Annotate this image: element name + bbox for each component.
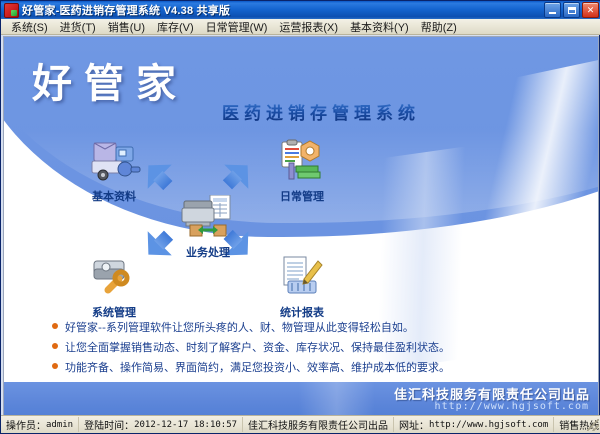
- module-caption: 日常管理: [254, 188, 350, 204]
- status-operator-value: admin: [46, 420, 73, 430]
- module-diagram: 基本资料: [4, 137, 598, 317]
- status-login-time: 登陆时间： 2012-12-17 18:10:57: [79, 417, 243, 432]
- module-caption: 基本资料: [66, 188, 162, 204]
- list-item: 让您全面掌握销售动态、时刻了解客户、资金、库存状况、保持最佳盈利状态。: [52, 339, 572, 355]
- client-area: 好管家 医药进销存管理系统: [3, 36, 599, 417]
- module-caption: 系统管理: [66, 304, 162, 320]
- printer-boxes-icon: [180, 195, 236, 241]
- application-window: 好管家-医药进销存管理系统 V4.38 共享版 ✕ 系统(S) 进货(T) 销售…: [0, 0, 600, 434]
- status-bar: 操作员： admin 登陆时间： 2012-12-17 18:10:57 佳汇科…: [1, 415, 600, 433]
- menu-item-sales[interactable]: 销售(U): [102, 18, 151, 36]
- title-bar[interactable]: 好管家-医药进销存管理系统 V4.38 共享版 ✕: [1, 1, 600, 19]
- status-login-value: 2012-12-17 18:10:57: [134, 420, 237, 430]
- truck-box-icon: [86, 139, 142, 185]
- menu-item-basedata[interactable]: 基本资料(Y): [344, 18, 415, 36]
- module-business-process[interactable]: 业务处理: [160, 195, 256, 260]
- module-basic-data[interactable]: 基本资料: [66, 139, 162, 204]
- status-operator-label: 操作员：: [6, 417, 46, 432]
- bullet-text: 让您全面掌握销售动态、时刻了解客户、资金、库存状况、保持最佳盈利状态。: [65, 339, 450, 355]
- brand-title: 好管家: [32, 51, 188, 109]
- bullet-dot-icon: [52, 323, 58, 329]
- module-caption: 统计报表: [254, 304, 350, 320]
- status-site-label: 网址：: [399, 417, 429, 432]
- status-operator: 操作员： admin: [1, 417, 79, 432]
- minimize-button[interactable]: [544, 2, 561, 18]
- splash-footer: 佳汇科技服务有限责任公司出品 http://www.hgjsoft.com: [4, 382, 598, 416]
- module-statistics-report[interactable]: 统计报表: [254, 255, 350, 320]
- menu-item-reports[interactable]: 运营报表(X): [273, 18, 344, 36]
- status-login-label: 登陆时间：: [84, 417, 134, 432]
- bullet-dot-icon: [52, 343, 58, 349]
- splash-screen: 好管家 医药进销存管理系统: [4, 37, 598, 416]
- minimize-icon: [549, 12, 556, 14]
- close-icon: ✕: [587, 6, 595, 15]
- status-site: 网址： http://www.hgjsoft.com: [394, 417, 554, 432]
- module-system-management[interactable]: 系统管理: [66, 255, 162, 320]
- resize-grip[interactable]: [587, 419, 599, 431]
- menu-item-stock[interactable]: 库存(V): [151, 18, 200, 36]
- maximize-button[interactable]: [563, 2, 580, 18]
- brand-subtitle: 医药进销存管理系统: [222, 99, 420, 124]
- close-button[interactable]: ✕: [582, 2, 599, 18]
- menu-item-help[interactable]: 帮助(Z): [415, 18, 463, 36]
- status-company: 佳汇科技服务有限责任公司出品: [243, 417, 394, 432]
- menu-item-daily[interactable]: 日常管理(W): [200, 18, 274, 36]
- window-title: 好管家-医药进销存管理系统 V4.38 共享版: [22, 2, 230, 18]
- menu-bar: 系统(S) 进货(T) 销售(U) 库存(V) 日常管理(W) 运营报表(X) …: [1, 19, 600, 35]
- bullet-text: 功能齐备、操作简易、界面简约，满足您投资小、效率高、维护成本低的要求。: [65, 359, 450, 375]
- module-daily-management[interactable]: 日常管理: [254, 139, 350, 204]
- report-pencil-icon: [274, 255, 330, 301]
- module-caption: 业务处理: [160, 244, 256, 260]
- clipboard-books-icon: [274, 139, 330, 185]
- list-item: 好管家--系列管理软件让您所头疼的人、财、物管理从此变得轻松自如。: [52, 319, 572, 335]
- menu-item-system[interactable]: 系统(S): [5, 18, 54, 36]
- window-controls: ✕: [544, 2, 599, 18]
- feature-bullet-list: 好管家--系列管理软件让您所头疼的人、财、物管理从此变得轻松自如。 让您全面掌握…: [52, 319, 572, 379]
- list-item: 功能齐备、操作简易、界面简约，满足您投资小、效率高、维护成本低的要求。: [52, 359, 572, 375]
- arrow-up-right-icon: [214, 153, 259, 198]
- bullet-text: 好管家--系列管理软件让您所头疼的人、财、物管理从此变得轻松自如。: [65, 319, 414, 335]
- drive-wrench-icon: [86, 255, 142, 301]
- menu-item-purchase[interactable]: 进货(T): [54, 18, 102, 36]
- bullet-dot-icon: [52, 363, 58, 369]
- maximize-icon: [568, 7, 576, 14]
- footer-url: http://www.hgjsoft.com: [435, 401, 589, 412]
- status-site-value: http://www.hgjsoft.com: [429, 420, 548, 430]
- app-icon: [4, 3, 19, 18]
